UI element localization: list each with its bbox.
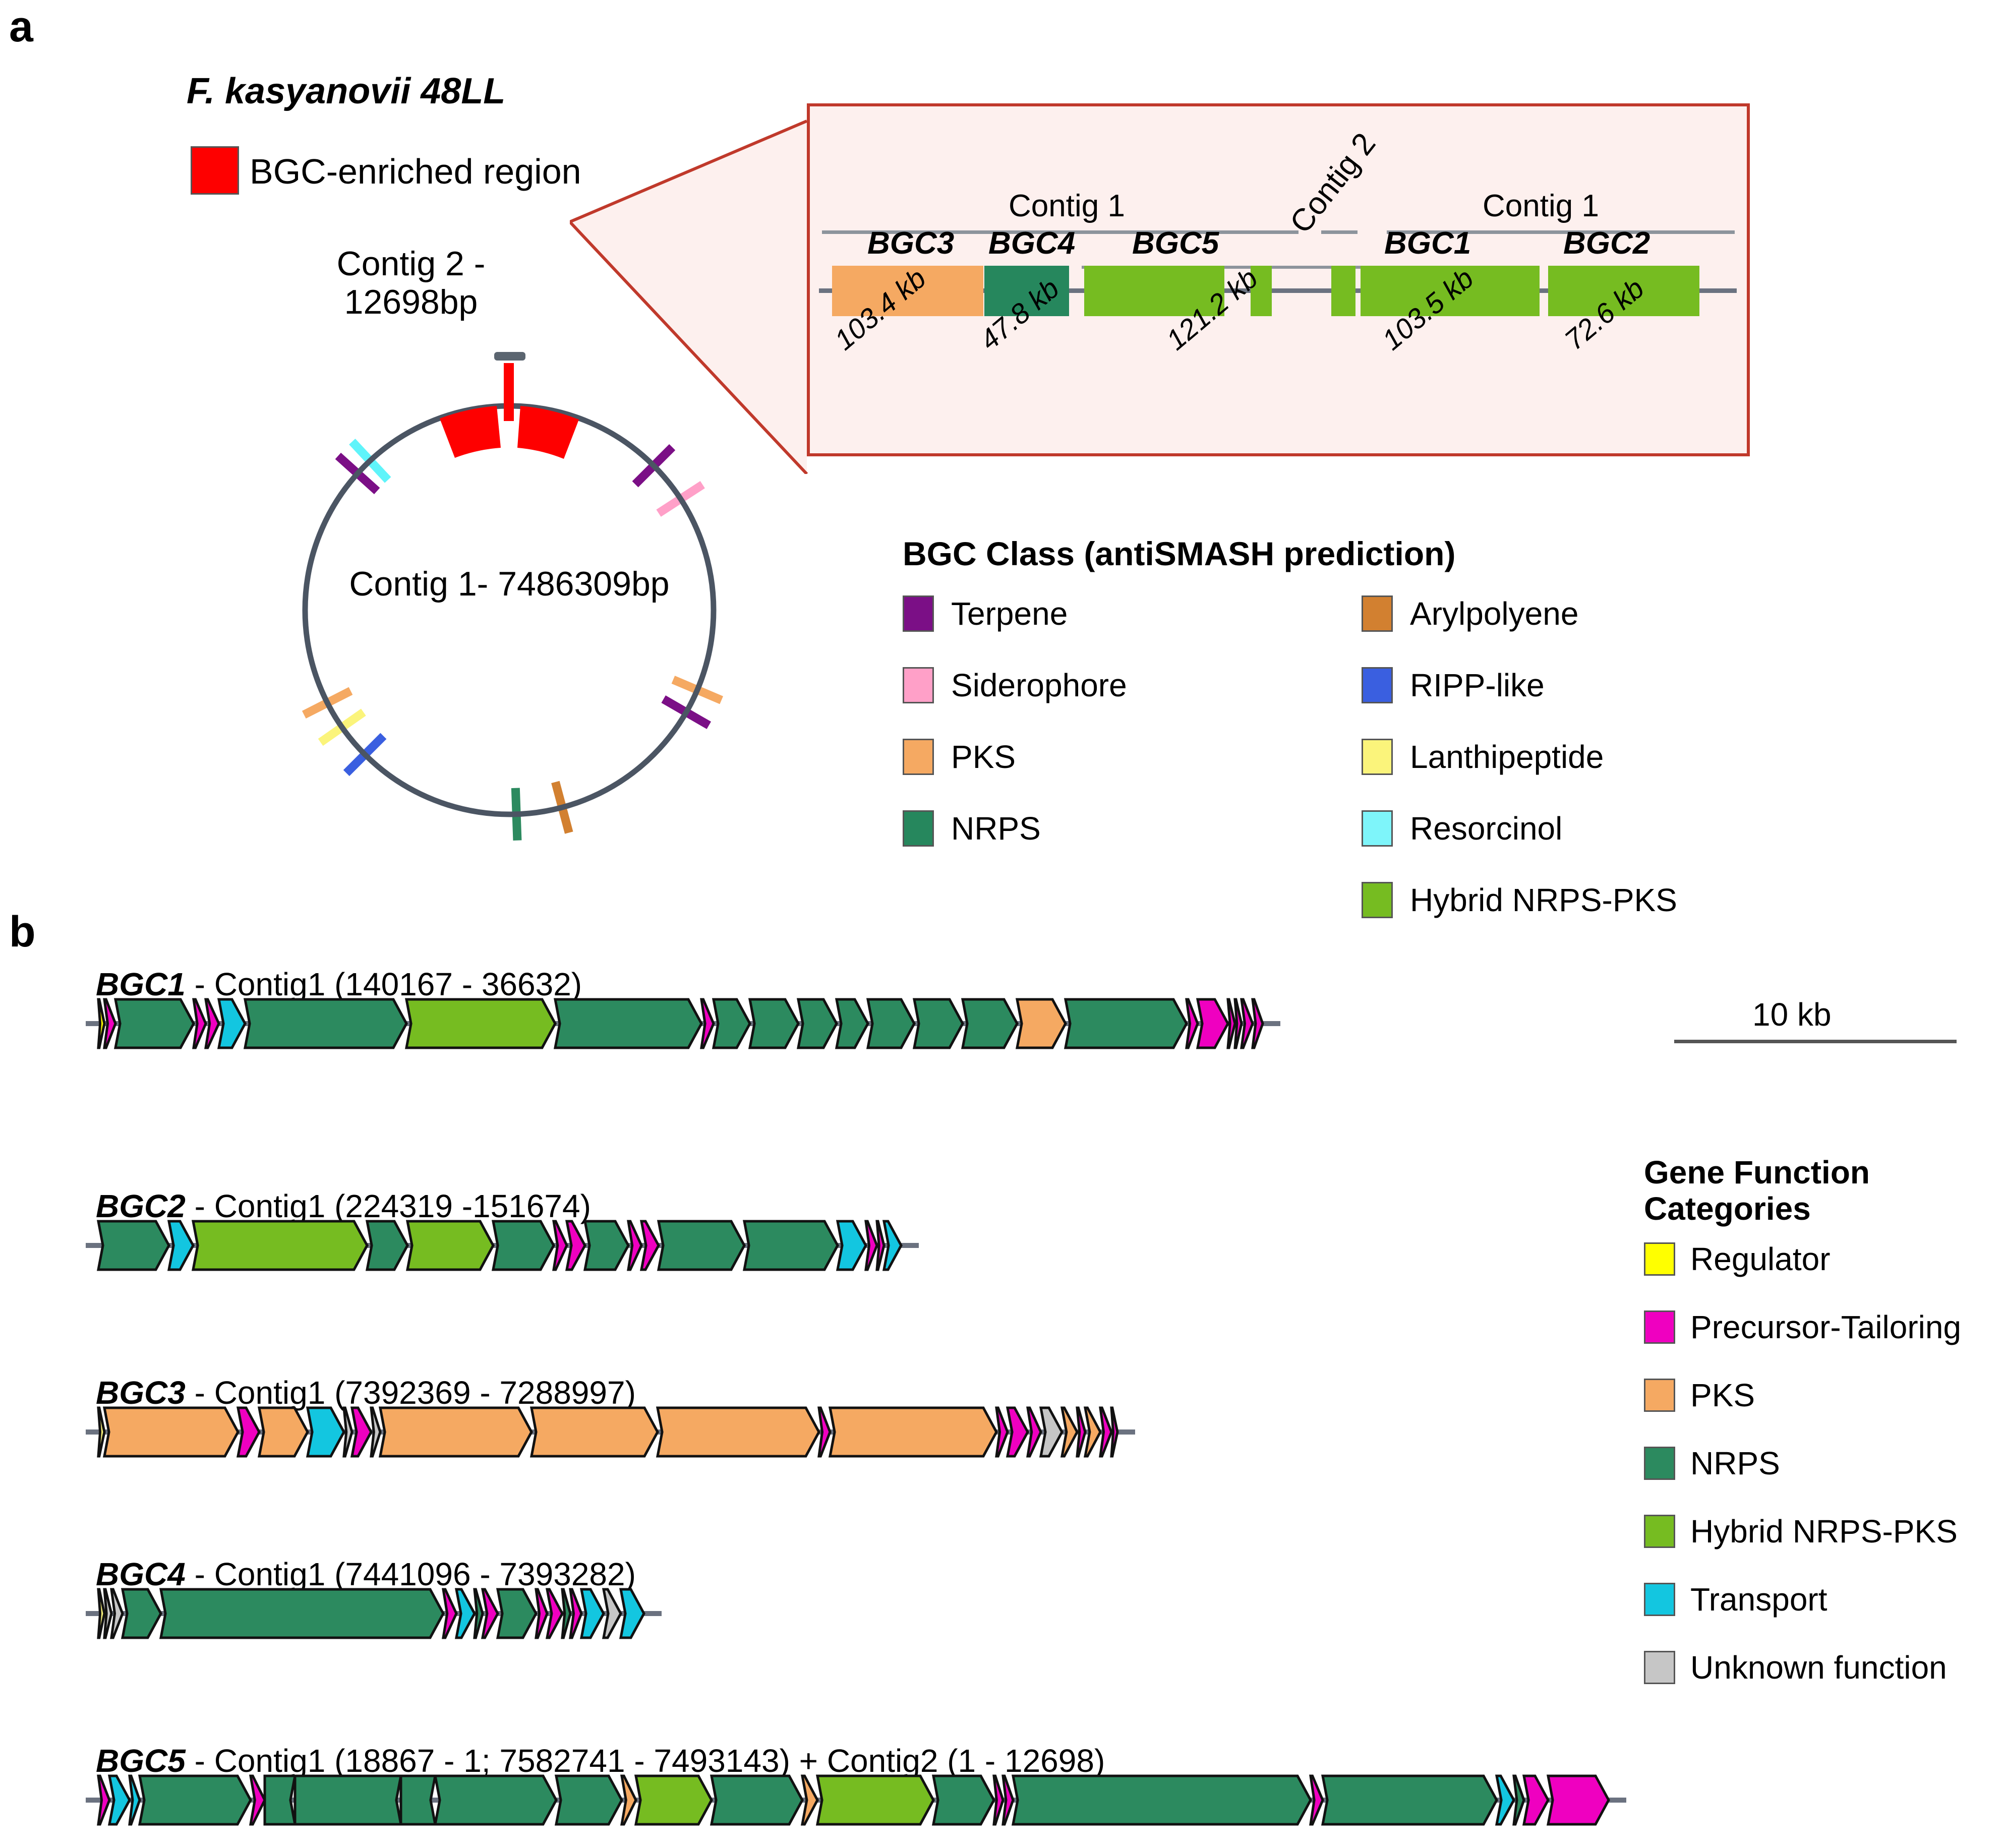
cluster-track-svg [86, 1576, 662, 1651]
gene-arrow [245, 999, 406, 1048]
gene-function-legend-row: Hybrid NRPS-PKS [1644, 1513, 1958, 1550]
callout-wedge [570, 121, 807, 474]
inset-block-bgc5c [1331, 266, 1355, 316]
gene-arrow [295, 1776, 401, 1824]
gene-arrow [493, 1221, 554, 1270]
gene-function-legend-label: Hybrid NRPS-PKS [1690, 1513, 1958, 1550]
gene-arrow [115, 999, 194, 1048]
gene-arrow [714, 999, 750, 1048]
gene-function-legend-row: Unknown function [1644, 1649, 1947, 1686]
bgc-class-legend-label: Siderophore [951, 667, 1127, 704]
cluster-track-bgc2 [86, 1208, 919, 1268]
bgc-enriched-region-swatch [191, 146, 239, 195]
gene-function-legend-row: Precursor-Tailoring [1644, 1308, 1961, 1346]
gene-arrow [1235, 999, 1242, 1048]
gene-arrow [744, 1221, 838, 1270]
gene-function-legend-label: NRPS [1690, 1445, 1780, 1482]
gene-arrow [838, 1221, 866, 1270]
gene-arrow [532, 1408, 658, 1456]
gene-function-legend-swatch [1644, 1583, 1675, 1616]
gene-arrow [308, 1408, 344, 1456]
gene-arrow [169, 1221, 193, 1270]
bgc-class-legend-swatch [1362, 739, 1393, 775]
gene-arrow [914, 999, 963, 1048]
inset-bgc-name-bgc2: BGC2 [1563, 225, 1650, 261]
gene-arrow [1524, 1776, 1548, 1824]
gene-arrow [837, 999, 868, 1048]
inset-bgc-name-bgc5: BGC5 [1132, 225, 1219, 261]
bgc-class-legend-row: Resorcinol [1362, 810, 1562, 847]
bgc-class-legend-swatch [903, 667, 934, 703]
gene-function-legend-swatch [1644, 1515, 1675, 1548]
cluster-track-bgc5 [86, 1762, 1626, 1823]
scale-bar-label: 10 kb [1752, 996, 1832, 1033]
gene-arrow [219, 999, 245, 1048]
cluster-track-svg [86, 1208, 919, 1283]
gene-arrow [435, 1776, 556, 1824]
cluster-track-svg [86, 1394, 1135, 1470]
gene-arrow [877, 1221, 884, 1270]
gene-function-legend-label: Transport [1690, 1581, 1827, 1618]
gene-arrow [636, 1776, 712, 1824]
gene-arrow [830, 1408, 996, 1456]
gene-arrow [380, 1408, 532, 1456]
gene-function-legend-swatch [1644, 1651, 1675, 1684]
contig2-callout-label: Contig 2 - 12698bp [303, 245, 519, 321]
gene-function-legend-swatch [1644, 1379, 1675, 1412]
bgc-class-legend-label: Resorcinol [1410, 810, 1562, 847]
inset-bgc-name-bgc4: BGC4 [988, 225, 1075, 261]
gene-function-legend-label: Unknown function [1690, 1649, 1947, 1686]
gene-arrow [259, 1408, 308, 1456]
gene-arrow [193, 1221, 367, 1270]
gene-arrow [123, 1589, 161, 1638]
contig2-cap [494, 352, 525, 361]
gene-arrow [98, 999, 104, 1048]
gene-arrow [1111, 1408, 1117, 1456]
gene-arrow [817, 1776, 933, 1824]
bgc-class-legend-row: PKS [903, 738, 1016, 776]
bgc-class-legend-swatch [903, 739, 934, 775]
bgc-class-legend-swatch [903, 810, 934, 847]
bgc-class-legend-swatch [1362, 595, 1393, 632]
cluster-track-svg [86, 986, 1280, 1061]
gene-arrow [750, 999, 798, 1048]
bgc-class-legend-row: RIPP-like [1362, 667, 1545, 704]
gene-function-legend-label: Regulator [1690, 1240, 1831, 1278]
gene-function-legend-row: PKS [1644, 1377, 1755, 1414]
contig1-center-label: Contig 1- 7486309bp [242, 565, 777, 603]
bgc-class-legend-label: Terpene [951, 595, 1068, 632]
panel-b-label: b [9, 910, 36, 953]
scale-bar-line [1674, 1040, 1957, 1043]
bgc-class-legend-swatch [1362, 882, 1393, 918]
species-name: F. kasyanovii 48LL [187, 71, 505, 112]
bgc-class-legend-row: NRPS [903, 810, 1041, 847]
inset-contig-header-3: Contig 1 [1483, 188, 1599, 224]
gene-arrow [798, 999, 837, 1048]
gene-function-legend-row: NRPS [1644, 1445, 1780, 1482]
bgc-class-legend-label: NRPS [951, 810, 1041, 847]
gene-arrow [621, 1589, 644, 1638]
cluster-track-bgc3 [86, 1394, 1135, 1455]
bgc-class-legend-swatch [1362, 810, 1393, 847]
bgc-class-legend-title: BGC Class (antiSMASH prediction) [903, 534, 1455, 573]
bgc-class-legend-swatch [1362, 667, 1393, 703]
gene-function-legend-row: Transport [1644, 1581, 1827, 1618]
cluster-track-bgc1 [86, 986, 1280, 1046]
gene-arrow [104, 1589, 111, 1638]
inset-bgc-name-bgc1: BGC1 [1384, 225, 1471, 261]
gene-arrow [401, 1776, 435, 1824]
gene-arrow [868, 999, 914, 1048]
gene-arrow [963, 999, 1017, 1048]
gene-arrow [1323, 1776, 1497, 1824]
panel-a-label: a [9, 5, 33, 48]
bgc-class-legend-row: Terpene [903, 595, 1068, 632]
gene-arrow [104, 1408, 238, 1456]
gene-arrow [344, 1408, 352, 1456]
gene-arrow [581, 1589, 604, 1638]
bgc-class-legend-label: RIPP-like [1410, 667, 1545, 704]
gene-arrow [585, 1221, 628, 1270]
cluster-track-svg [86, 1762, 1626, 1838]
gene-function-legend-swatch [1644, 1242, 1675, 1276]
gene-arrow [475, 1589, 483, 1638]
inset-contig-header-1: Contig 1 [1009, 188, 1125, 224]
bgc-class-legend-label: Arylpolyene [1410, 595, 1578, 632]
cluster-track-bgc4 [86, 1576, 662, 1636]
gene-arrow [1013, 1776, 1311, 1824]
contig2-tick [504, 363, 514, 421]
gene-arrow [556, 1776, 622, 1824]
gene-arrow [658, 1408, 819, 1456]
gene-function-legend-row: Regulator [1644, 1240, 1831, 1278]
bgc-enriched-region-label: BGC-enriched region [250, 151, 581, 192]
gene-arrow [98, 1589, 104, 1638]
gene-arrow [98, 1221, 169, 1270]
gene-arrow [659, 1221, 744, 1270]
inset-bgc-name-bgc3: BGC3 [867, 225, 954, 261]
bgc-class-legend-row: Arylpolyene [1362, 595, 1578, 632]
gene-function-legend-label: Precursor-Tailoring [1690, 1308, 1961, 1346]
gene-function-legend-swatch [1644, 1310, 1675, 1344]
bgc-class-legend-row: Siderophore [903, 667, 1127, 704]
gene-arrow [161, 1589, 443, 1638]
gene-arrow [555, 999, 701, 1048]
gene-function-legend-swatch [1644, 1447, 1675, 1480]
inset-contig-rule-2 [1321, 230, 1358, 234]
bgc-class-legend-label: Hybrid NRPS-PKS [1410, 881, 1677, 919]
bgc-class-legend-row: Lanthipeptide [1362, 738, 1604, 776]
gene-arrow [367, 1221, 407, 1270]
bgc-class-legend-swatch [903, 595, 934, 632]
gene-arrow [140, 1776, 251, 1824]
bgc-class-legend-label: Lanthipeptide [1410, 738, 1604, 776]
gene-arrow [498, 1589, 536, 1638]
gene-arrow [1548, 1776, 1609, 1824]
gene-arrow [406, 999, 555, 1048]
gene-arrow [265, 1776, 295, 1824]
gene-arrow [1066, 999, 1187, 1048]
gene-arrow [562, 1589, 570, 1638]
gene-function-legend-label: PKS [1690, 1377, 1755, 1414]
gene-arrow [98, 1408, 104, 1456]
gene-arrow [1077, 1408, 1085, 1456]
gene-arrow [407, 1221, 493, 1270]
gene-arrow [1228, 999, 1235, 1048]
gene-arrow [1017, 999, 1066, 1048]
gene-arrow [933, 1776, 994, 1824]
bgc-class-legend-row: Hybrid NRPS-PKS [1362, 881, 1677, 919]
gene-arrow [1198, 999, 1228, 1048]
gene-function-legend-title: Gene Function Categories [1644, 1155, 1957, 1227]
gene-arrow [712, 1776, 802, 1824]
bgc-inset-panel: Contig 1 Contig 2 Contig 1 BGC3 BGC4 BGC… [807, 103, 1750, 456]
bgc-class-legend-label: PKS [951, 738, 1016, 776]
